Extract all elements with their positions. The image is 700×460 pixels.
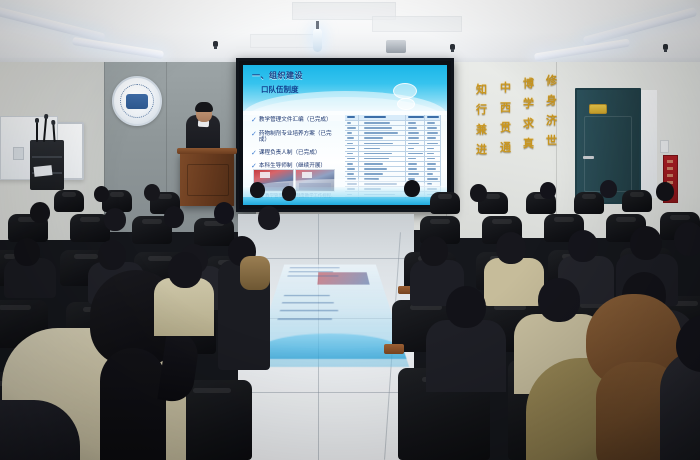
slide-bullet-item: ✓ 药物制剂专业培养方案（已完成） xyxy=(251,131,337,144)
slide-table-cell xyxy=(345,126,359,130)
slide-table-cell xyxy=(425,152,441,156)
reflection-text-line xyxy=(282,302,334,303)
pendant-lamp-icon xyxy=(313,28,322,52)
slide-table-cell xyxy=(345,172,359,176)
slide-table-cell xyxy=(406,126,425,130)
slide-table-cell xyxy=(425,177,441,181)
slide-table-cell xyxy=(359,136,406,140)
audience-head xyxy=(420,236,448,266)
slide-table-header-cell xyxy=(406,115,425,120)
slide-table-cell xyxy=(359,146,406,150)
door-sign-icon xyxy=(589,104,607,114)
audience-head xyxy=(470,184,487,202)
microphone-icon xyxy=(36,122,38,142)
audience-head xyxy=(168,252,202,288)
crest-core xyxy=(126,94,148,109)
audience-head xyxy=(164,206,184,228)
projector-icon xyxy=(386,40,406,53)
slide-table-cell xyxy=(425,162,441,166)
slide-table-cell xyxy=(425,167,441,171)
slide-table-cell xyxy=(425,121,441,125)
calligraphy-char: 博 xyxy=(523,74,534,94)
audience-torso xyxy=(426,320,506,392)
audience-head xyxy=(214,202,234,224)
ceiling-vent xyxy=(250,34,316,48)
slide-table-cell xyxy=(425,172,441,176)
slide-bubble-graphic xyxy=(397,98,415,110)
audience-torso xyxy=(484,258,544,306)
slide-table-cell xyxy=(406,136,425,140)
calligraphy-char: 通 xyxy=(500,138,511,158)
slide-table-header-cell xyxy=(345,115,359,120)
slide-title: 一、组织建设 xyxy=(252,70,303,81)
slide-table-cell xyxy=(345,141,359,145)
audience-head xyxy=(258,206,280,230)
slide-table-cell xyxy=(359,141,406,145)
audience-head xyxy=(540,182,556,199)
reflection-text-line xyxy=(287,275,338,276)
audience-head xyxy=(446,286,486,328)
ceiling-spot-icon xyxy=(663,44,668,50)
slide-table-cell xyxy=(359,157,406,161)
calligraphy-char: 求 xyxy=(523,114,534,134)
floor-tile-line xyxy=(244,258,412,259)
calligraphy-char: 兼 xyxy=(476,120,487,140)
seat-armrest xyxy=(384,344,404,354)
slide-table-cell xyxy=(359,152,406,156)
podium xyxy=(180,152,234,206)
audience-head xyxy=(282,186,296,201)
checkmark-icon: ✓ xyxy=(251,131,257,138)
slide-table-cell xyxy=(345,131,359,135)
calligraphy-char: 济 xyxy=(546,111,557,131)
slide-table-cell xyxy=(345,157,359,161)
whiteboard-note xyxy=(13,147,24,160)
ceiling-spot-icon xyxy=(213,41,218,47)
slide-table-cell xyxy=(425,131,441,135)
calligraphy-column: 修 身 济 世 xyxy=(546,71,557,151)
slide-bubble-graphic xyxy=(393,83,417,99)
slide-table-header-cell xyxy=(425,115,441,120)
door-handle-icon[interactable] xyxy=(583,156,594,159)
audience-head xyxy=(656,182,674,201)
checkmark-icon: ✓ xyxy=(251,150,257,157)
calligraphy-column: 中 西 贯 通 xyxy=(500,78,511,158)
reflection-text-line xyxy=(289,267,339,268)
slide-table-cell xyxy=(425,141,441,145)
slide-bullet-list: ✓ 教学管理文件汇编（已完成） ✓ 药物制剂专业培养方案（已完成） ✓ 课程负责… xyxy=(251,117,337,177)
audience-head xyxy=(94,186,109,202)
audience-head xyxy=(30,202,50,223)
wall-seam xyxy=(166,62,167,212)
slide-table-cell xyxy=(345,121,359,125)
slide-table-cell xyxy=(406,121,425,125)
slide-table-cell xyxy=(406,141,425,145)
slide-table-cell xyxy=(406,172,425,176)
audience-head xyxy=(14,238,40,266)
slide-table-cell xyxy=(359,131,406,135)
slide-table-cell xyxy=(345,167,359,171)
slide-bullet-text: 教学管理文件汇编（已完成） xyxy=(259,117,332,123)
slide-table-cell xyxy=(406,152,425,156)
calligraphy-char: 行 xyxy=(476,100,487,120)
presenter-hair xyxy=(195,102,213,112)
audience-head xyxy=(144,184,160,201)
slide-table-cell xyxy=(425,136,441,140)
calligraphy-char: 真 xyxy=(523,134,534,154)
slide-table-cell xyxy=(406,157,425,161)
slide-table-cell xyxy=(359,172,406,176)
checkmark-icon: ✓ xyxy=(251,117,257,124)
slide-table-cell xyxy=(345,136,359,140)
reflection-text-line xyxy=(284,295,330,296)
reflection-photo xyxy=(317,272,369,284)
slide-table-cell xyxy=(359,121,406,125)
audience-head xyxy=(496,232,526,264)
slide-table-cell xyxy=(425,126,441,130)
audience-hair xyxy=(100,348,166,460)
reflection-text-line xyxy=(288,271,333,272)
ceiling-spot-icon xyxy=(450,44,455,50)
projection-screen: 一、组织建设 口队伍制度 ✓ 教学管理文件汇编（已完成） ✓ 药物制剂专业培养方… xyxy=(236,58,454,212)
calligraphy-char: 西 xyxy=(500,98,511,118)
calligraphy-column: 博 学 求 真 xyxy=(523,74,534,154)
audience-head xyxy=(104,208,126,231)
slide-table-header-cell xyxy=(359,115,406,120)
slide-bullet-item: ✓ 教学管理文件汇编（已完成） xyxy=(251,117,337,124)
slide-bullet-item: ✓ 课程负责人制（已完成） xyxy=(251,150,337,157)
slide-table-cell xyxy=(345,162,359,166)
reflection-text-line xyxy=(277,318,332,320)
slide-table-cell xyxy=(406,167,425,171)
audience-head xyxy=(600,180,617,198)
calligraphy-char: 知 xyxy=(476,80,487,100)
audience-head xyxy=(630,226,662,260)
auditorium-seat[interactable] xyxy=(54,190,84,212)
floor-tile-line xyxy=(236,392,418,393)
microphone-cart xyxy=(30,140,64,190)
slide-table-cell xyxy=(359,162,406,166)
calligraphy-char: 进 xyxy=(476,140,487,160)
slide-table-cell xyxy=(359,126,406,130)
calligraphy-char: 世 xyxy=(546,131,557,151)
audience-head xyxy=(404,180,420,197)
calligraphy-char: 中 xyxy=(500,78,511,98)
slide-subtitle: 口队伍制度 xyxy=(261,84,299,95)
ceiling-vent xyxy=(372,16,462,32)
cart-paper xyxy=(34,165,53,177)
lecture-hall-photo: 知 行 兼 进 中 西 贯 通 博 学 求 真 修 身 济 世 xyxy=(0,0,700,460)
audience-head xyxy=(568,230,598,262)
slide-table-cell xyxy=(406,162,425,166)
calligraphy-char: 修 xyxy=(546,71,557,91)
calligraphy-char: 学 xyxy=(523,94,534,114)
auditorium-seat[interactable] xyxy=(430,192,460,214)
audience-head xyxy=(250,182,265,198)
calligraphy-char: 贯 xyxy=(500,118,511,138)
slide-table-cell xyxy=(406,146,425,150)
slide-table-cell xyxy=(359,167,406,171)
slide-table-cell xyxy=(345,146,359,150)
audience-torso xyxy=(240,256,270,290)
auditorium-seat[interactable] xyxy=(622,190,652,212)
slide-bullet-text: 课程负责人制（已完成） xyxy=(259,150,321,156)
slide-table-cell xyxy=(406,131,425,135)
calligraphy-char: 身 xyxy=(546,91,557,111)
audience-head xyxy=(674,222,700,256)
light-switch-icon[interactable] xyxy=(660,140,669,153)
university-crest-icon xyxy=(112,76,162,126)
slide-bullet-text: 药物制剂专业培养方案（已完成） xyxy=(259,131,337,144)
slide-table-cell xyxy=(425,146,441,150)
slide-table-cell xyxy=(345,152,359,156)
calligraphy-column: 知 行 兼 进 xyxy=(476,80,487,160)
audience-head xyxy=(538,278,580,322)
audience-head xyxy=(98,240,126,270)
reflection-text-line xyxy=(279,310,338,312)
slide-table-cell xyxy=(425,157,441,161)
auditorium-seat[interactable] xyxy=(574,192,604,214)
